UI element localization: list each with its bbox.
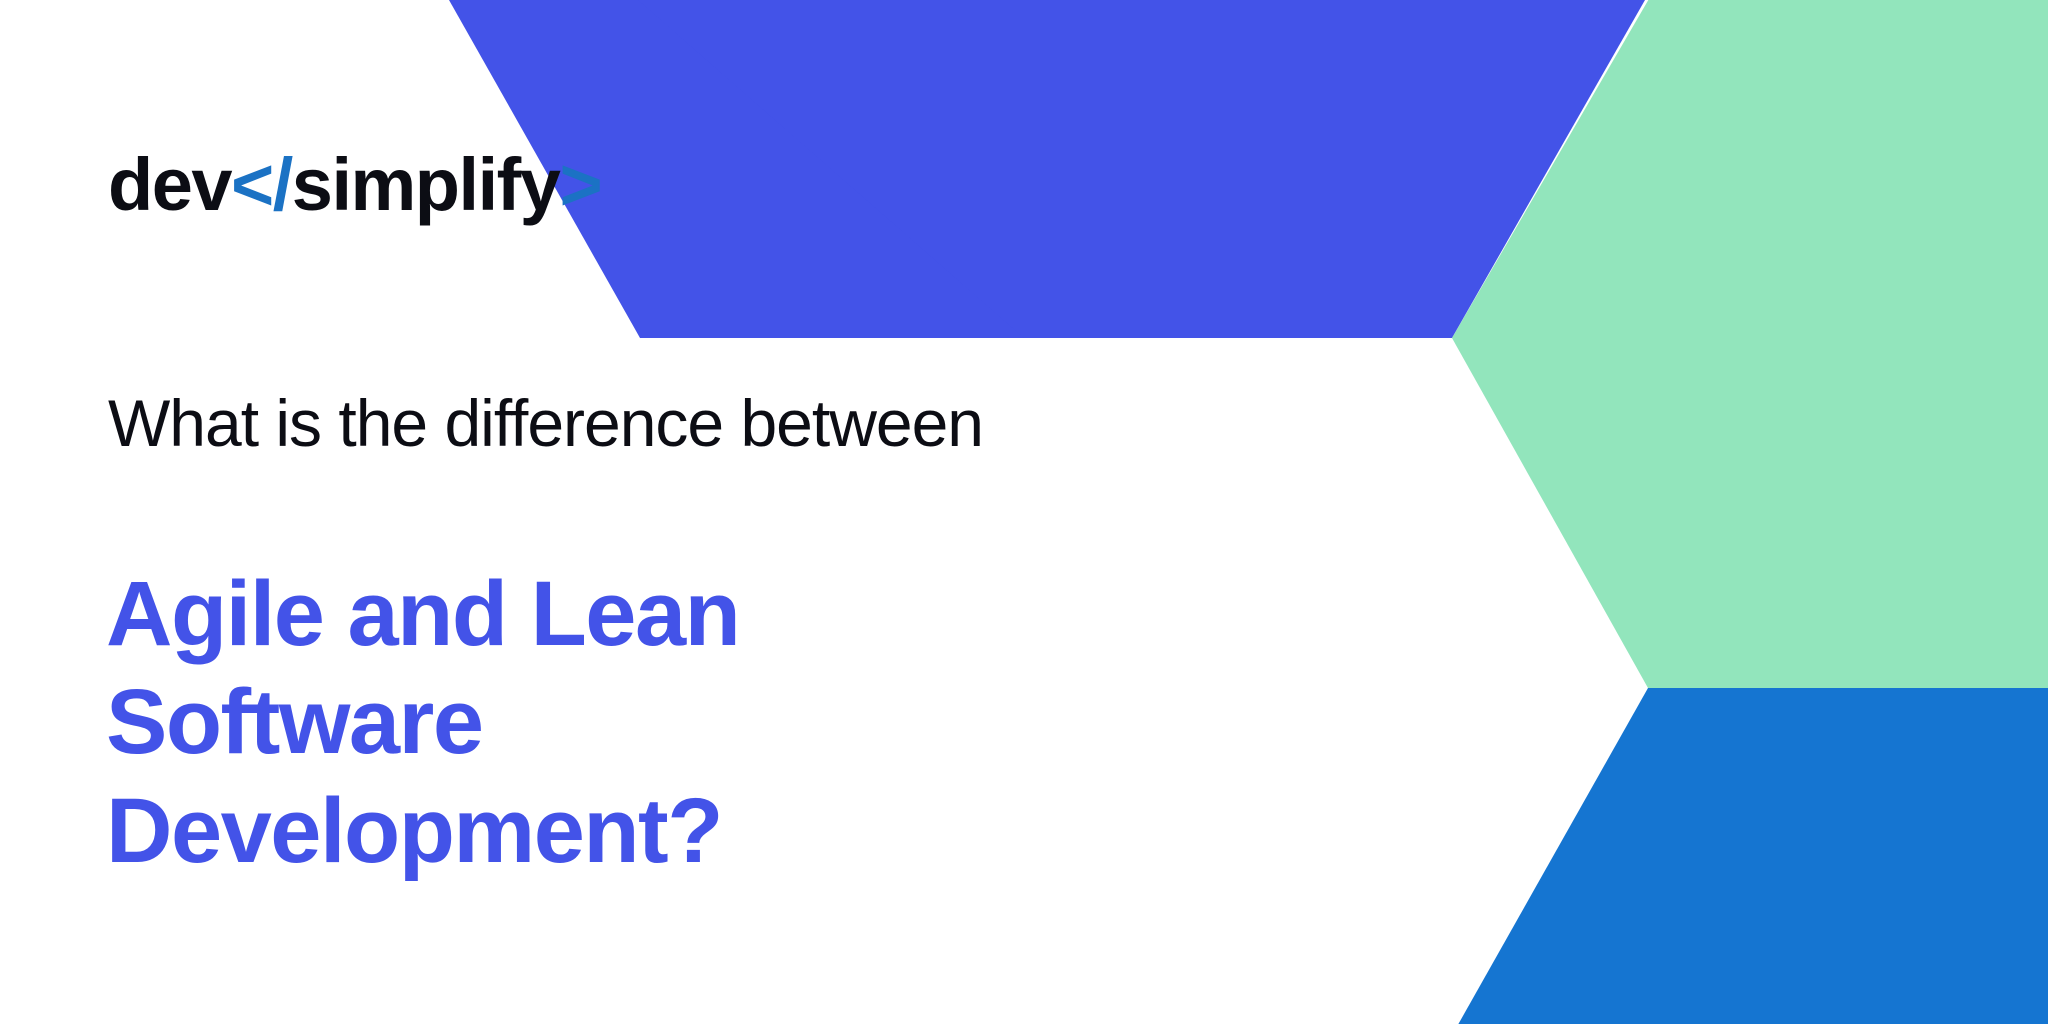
- logo-open-tag-icon: </: [231, 143, 292, 226]
- brand-logo[interactable]: dev</simplify>: [108, 148, 601, 222]
- hero-headline: Agile and Lean Software Development?: [106, 560, 739, 886]
- headline-line-1: Agile and Lean: [106, 560, 739, 669]
- text-content-column: dev</simplify> What is the difference be…: [0, 0, 1100, 1024]
- logo-close-tag-icon: >: [559, 143, 601, 226]
- social-card-banner: dev</simplify> What is the difference be…: [0, 0, 2048, 1024]
- logo-word: simplify: [292, 143, 560, 226]
- hexagon-mint: [1452, 0, 2048, 1010]
- headline-line-3: Development?: [106, 777, 739, 886]
- hexagon-azure: [1455, 688, 2048, 1024]
- hero-kicker: What is the difference between: [108, 388, 983, 459]
- logo-prefix: dev: [108, 143, 231, 226]
- headline-line-2: Software: [106, 668, 739, 777]
